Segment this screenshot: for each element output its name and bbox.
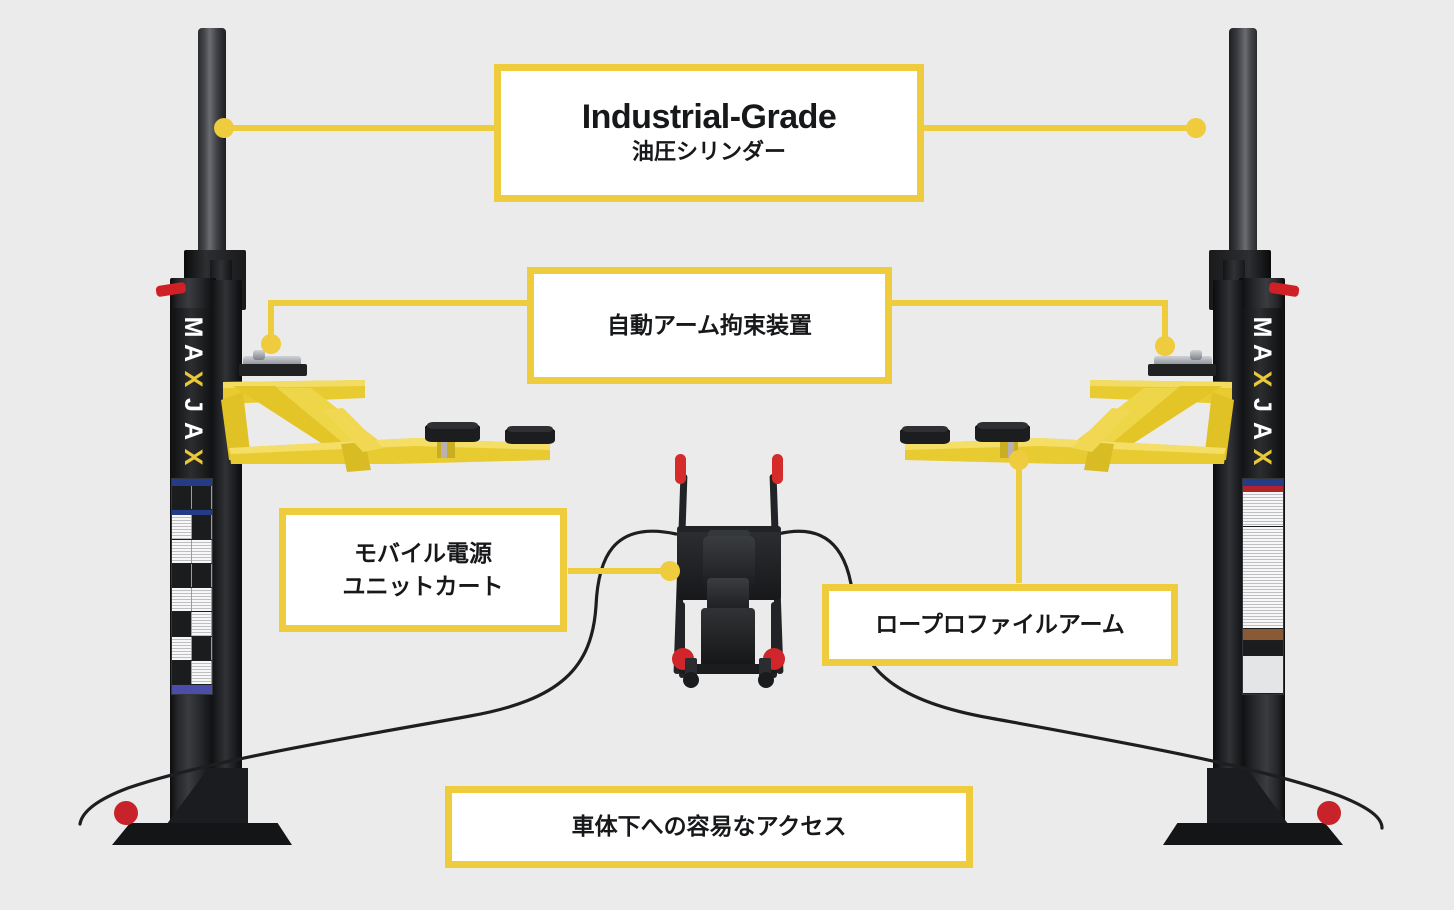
- connector-dot-cylinder-left: [214, 118, 234, 138]
- logo-letter: J: [180, 392, 206, 418]
- right-base-plate: [1163, 823, 1343, 845]
- decal-row: [172, 588, 212, 612]
- logo-letter: A: [180, 418, 206, 444]
- callout-label-jp: 車体下への容易なアクセス: [572, 810, 847, 843]
- logo-letter: A: [180, 340, 206, 366]
- left-maxjax-logo: M A X J A X: [173, 308, 213, 483]
- callout-label-jp: ロープロファイルアーム: [875, 608, 1125, 641]
- connector-dot-lowprofile: [1009, 450, 1029, 470]
- cart-grip-left[interactable]: [675, 454, 686, 484]
- connector-dot-restraint-left: [261, 334, 281, 354]
- connector-cylinder-right: [918, 125, 1196, 131]
- logo-letter: J: [1249, 392, 1275, 418]
- cart-grip-right[interactable]: [772, 454, 783, 484]
- connector-dot-cylinder-right: [1186, 118, 1206, 138]
- logo-letter: A: [1249, 340, 1275, 366]
- cart-fluid-reservoir: [701, 608, 755, 668]
- logo-letter: X: [180, 366, 206, 392]
- left-arm-restraint-housing: [239, 364, 307, 376]
- right-lift-pad-outer-top: [902, 426, 948, 432]
- logo-letter: M: [1249, 314, 1275, 340]
- decal-row: [1243, 656, 1283, 694]
- logo-letter: X: [1249, 444, 1275, 470]
- decal-row: [1243, 641, 1283, 655]
- decal-row: [1243, 527, 1283, 629]
- callout-label-jp-line1: モバイル電源: [354, 537, 492, 570]
- decal-row: [172, 661, 212, 685]
- left-instruction-decal: [171, 478, 213, 695]
- connector-restraint-left-horizontal: [268, 300, 532, 306]
- decal-row: [1243, 629, 1283, 642]
- connector-dot-cart: [660, 561, 680, 581]
- connector-cylinder-left: [224, 125, 502, 131]
- right-restraint-pin: [1190, 350, 1202, 360]
- left-base-plate: [112, 823, 292, 845]
- right-maxjax-logo: M A X J A X: [1242, 308, 1282, 483]
- decal-header-band: [172, 479, 212, 486]
- connector-dot-restraint-right: [1155, 336, 1175, 356]
- logo-letter: A: [1249, 418, 1275, 444]
- connector-restraint-right-horizontal: [888, 300, 1168, 306]
- decal-header-band: [1243, 479, 1283, 486]
- left-lift-pad-inner-top: [427, 422, 478, 429]
- callout-label-jp-line2: ユニットカート: [343, 570, 504, 603]
- callout-label-jp: 自動アーム拘束装置: [607, 309, 812, 342]
- left-restraint-pin: [253, 350, 265, 360]
- callout-title-jp: 油圧シリンダー: [632, 137, 786, 167]
- connector-lowprofile-vertical: [1016, 458, 1022, 583]
- callout-mobile-power-unit-cart[interactable]: モバイル電源 ユニットカート: [279, 508, 567, 632]
- cart-roller-left: [683, 672, 699, 688]
- product-feature-diagram: M A X J A X: [0, 0, 1454, 910]
- decal-row: [172, 564, 212, 588]
- decal-footer-band: [172, 685, 212, 694]
- cart-roller-right: [758, 672, 774, 688]
- right-warning-decal: [1242, 478, 1284, 695]
- decal-row: [172, 515, 212, 539]
- callout-title-en: Industrial-Grade: [582, 99, 837, 136]
- left-lift-pad-outer-top: [507, 426, 553, 432]
- decal-row: [172, 637, 212, 661]
- decal-row: [172, 612, 212, 636]
- logo-letter: X: [180, 444, 206, 470]
- decal-row: [1243, 492, 1283, 527]
- callout-low-profile-arms[interactable]: ロープロファイルアーム: [822, 584, 1178, 666]
- right-hose-fitting: [1317, 801, 1341, 825]
- callout-automatic-arm-restraint[interactable]: 自動アーム拘束装置: [527, 267, 892, 384]
- logo-letter: M: [180, 314, 206, 340]
- decal-row: [172, 540, 212, 564]
- right-low-profile-arm: [895, 352, 1240, 487]
- callout-hydraulic-cylinder[interactable]: Industrial-Grade 油圧シリンダー: [494, 64, 924, 202]
- right-lift-pad-inner-top: [977, 422, 1028, 429]
- callout-easy-undercar-access[interactable]: 車体下への容易なアクセス: [445, 786, 973, 868]
- mobile-power-unit-cart: [655, 452, 805, 712]
- decal-row: [172, 486, 212, 510]
- left-hose-fitting: [114, 801, 138, 825]
- right-arm-restraint-housing: [1148, 364, 1216, 376]
- left-low-profile-arm: [215, 352, 560, 487]
- logo-letter: X: [1249, 366, 1275, 392]
